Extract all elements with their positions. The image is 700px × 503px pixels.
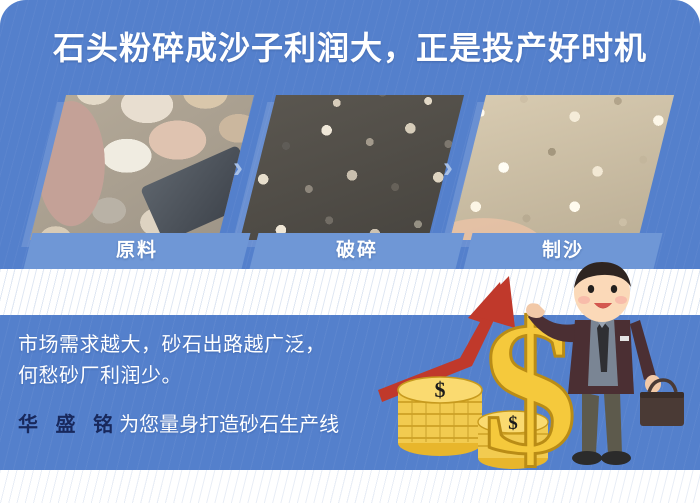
chevron-right-icon-2: › xyxy=(434,155,462,183)
marketing-copy: 市场需求越大，砂石出路越广泛， 何愁砂厂利润少。 华 盛 铭为您量身打造砂石生产… xyxy=(18,330,398,440)
chevron-right-icon: › xyxy=(224,155,252,183)
copy-line-2: 何愁砂厂利润少。 xyxy=(18,361,398,392)
tagline-text: 为您量身打造砂石生产线 xyxy=(119,414,339,436)
copy-line-1: 市场需求越大，砂石出路越广泛， xyxy=(18,330,398,361)
river-pebbles-photo xyxy=(30,95,254,240)
promo-banner: 石头粉碎成沙子利润大，正是投产好时机 › › 原料 破碎 制沙 xyxy=(0,0,700,503)
page-title: 石头粉碎成沙子利润大，正是投产好时机 xyxy=(0,26,700,70)
businessman-with-money-illustration: $ $ $ xyxy=(368,262,700,470)
crushed-gravel-photo xyxy=(240,95,464,240)
brand-name: 华 盛 铭 xyxy=(18,414,119,436)
process-photo-raw-material xyxy=(30,95,254,240)
process-photo-sand-making xyxy=(450,95,674,240)
footer-strip xyxy=(0,470,700,503)
process-row: › › xyxy=(0,95,700,245)
manufactured-sand-photo xyxy=(450,95,674,240)
brand-tagline-row: 华 盛 铭为您量身打造砂石生产线 xyxy=(18,410,398,440)
svg-text:$: $ xyxy=(435,377,446,402)
coin-stack-icon: $ xyxy=(398,377,482,456)
process-label-raw-material: 原料 xyxy=(28,233,246,269)
process-photo-crushing xyxy=(240,95,464,240)
